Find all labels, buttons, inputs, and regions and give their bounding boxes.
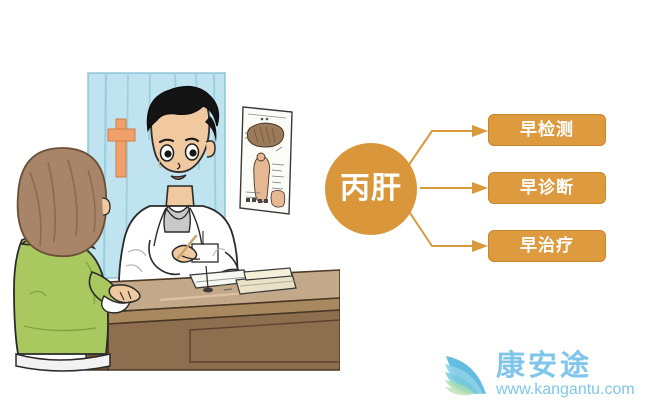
hub-and-spoke-diagram: 丙肝 早检测 早诊断 早治疗	[320, 95, 653, 285]
watermark-url: www.kangantu.com	[496, 381, 635, 399]
node-label-early-diagnosis: 早诊断	[520, 180, 574, 197]
watermark-text: 康安途 www.kangantu.com	[496, 351, 635, 398]
site-watermark: 康安途 www.kangantu.com	[444, 344, 650, 406]
arrow-to-node-0	[406, 125, 488, 169]
infographic-canvas: 丙肝 早检测 早诊断 早治疗 康安途 www.kangantu.com	[0, 0, 653, 408]
hub-node-label: 丙肝	[340, 174, 402, 204]
arrow-to-node-1	[420, 182, 488, 194]
fan-leaf-logo	[444, 352, 492, 398]
node-label-early-treatment: 早治疗	[520, 238, 574, 255]
node-box-early-treatment[interactable]: 早治疗	[488, 230, 606, 262]
node-label-early-detection: 早检测	[520, 122, 574, 139]
node-box-early-diagnosis[interactable]: 早诊断	[488, 172, 606, 204]
hub-node-hepatitis-c[interactable]: 丙肝	[325, 143, 417, 235]
watermark-brand-cn: 康安途	[496, 351, 635, 381]
anatomy-poster	[240, 107, 292, 214]
doctor-patient-consultation-scene	[0, 0, 340, 408]
desk-papers	[190, 266, 296, 294]
node-box-early-detection[interactable]: 早检测	[488, 114, 606, 146]
arrow-to-node-2	[406, 207, 488, 252]
